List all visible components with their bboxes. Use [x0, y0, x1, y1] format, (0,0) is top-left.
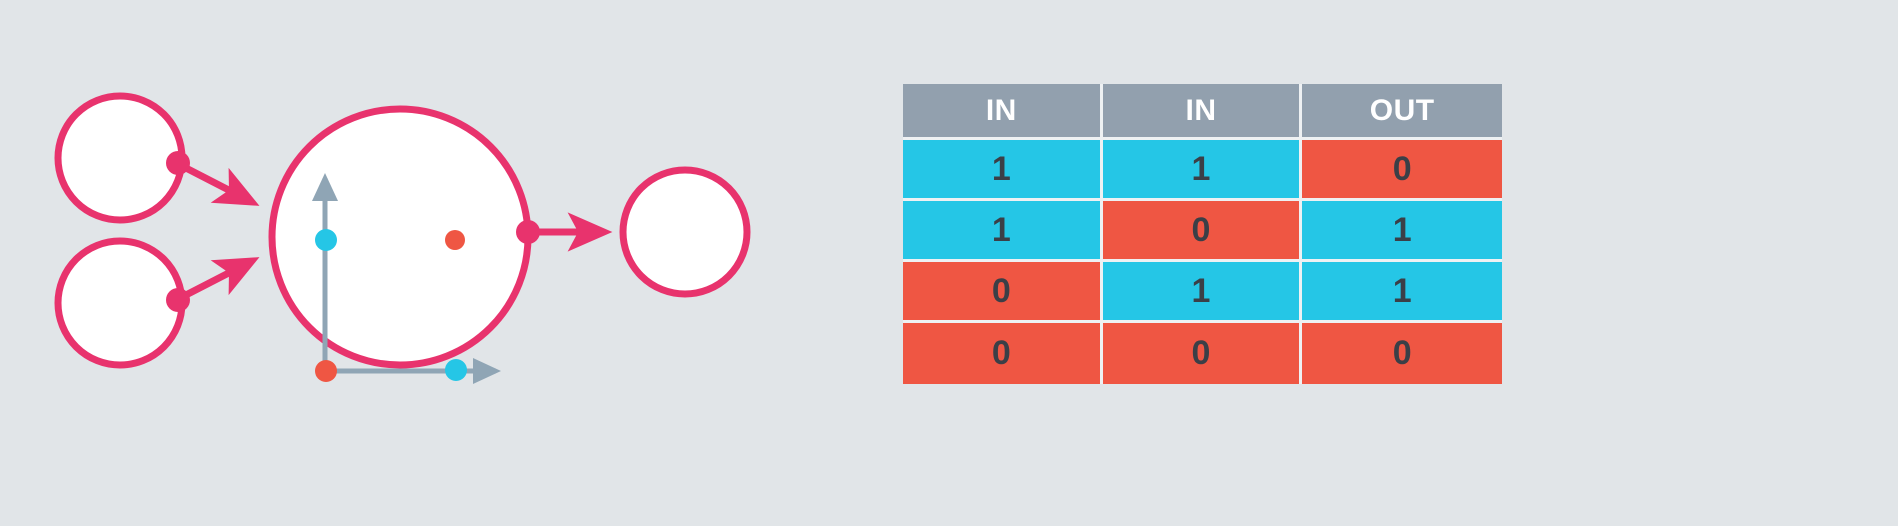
table-cell-r2c1: 1 [1103, 262, 1303, 323]
table-cell-r3c0: 0 [903, 323, 1103, 384]
table-header-out: OUT [1302, 84, 1502, 140]
scatter-point-x-axis[interactable] [445, 359, 467, 381]
input-node-2[interactable] [58, 241, 182, 365]
input-2-terminal-dot[interactable] [166, 288, 190, 312]
table-row: 0 1 1 [903, 262, 1502, 323]
scatter-point-upper-right[interactable] [445, 230, 465, 250]
output-terminal-dot[interactable] [516, 220, 540, 244]
truth-table: IN IN OUT 1 1 0 1 0 1 0 1 1 0 [903, 84, 1502, 384]
table-cell-r3c1: 0 [1103, 323, 1303, 384]
table-cell-r1c2: 1 [1302, 201, 1502, 262]
input-1-terminal-dot[interactable] [166, 151, 190, 175]
arrow-input-2 [184, 261, 252, 296]
perceptron-diagram [0, 0, 900, 526]
table-row: 1 0 1 [903, 201, 1502, 262]
table-cell-r0c1: 1 [1103, 140, 1303, 201]
table-row: 0 0 0 [903, 323, 1502, 384]
scatter-point-origin[interactable] [315, 360, 337, 382]
table-cell-r2c0: 0 [903, 262, 1103, 323]
table-row: 1 1 0 [903, 140, 1502, 201]
table-cell-r1c1: 0 [1103, 201, 1303, 262]
table-cell-r0c2: 0 [1302, 140, 1502, 201]
arrow-input-1 [184, 167, 252, 202]
table-cell-r1c0: 1 [903, 201, 1103, 262]
screenshot-canvas: IN IN OUT 1 1 0 1 0 1 0 1 1 0 [0, 0, 1898, 526]
table-header-in-a: IN [903, 84, 1103, 140]
input-node-1[interactable] [58, 96, 182, 220]
table-cell-r2c2: 1 [1302, 262, 1502, 323]
table-cell-r0c0: 1 [903, 140, 1103, 201]
table-header-in-b: IN [1103, 84, 1303, 140]
output-node[interactable] [623, 170, 747, 294]
scatter-point-y-axis[interactable] [315, 229, 337, 251]
processing-node[interactable] [272, 109, 528, 365]
table-cell-r3c2: 0 [1302, 323, 1502, 384]
table-header-row: IN IN OUT [903, 84, 1502, 140]
